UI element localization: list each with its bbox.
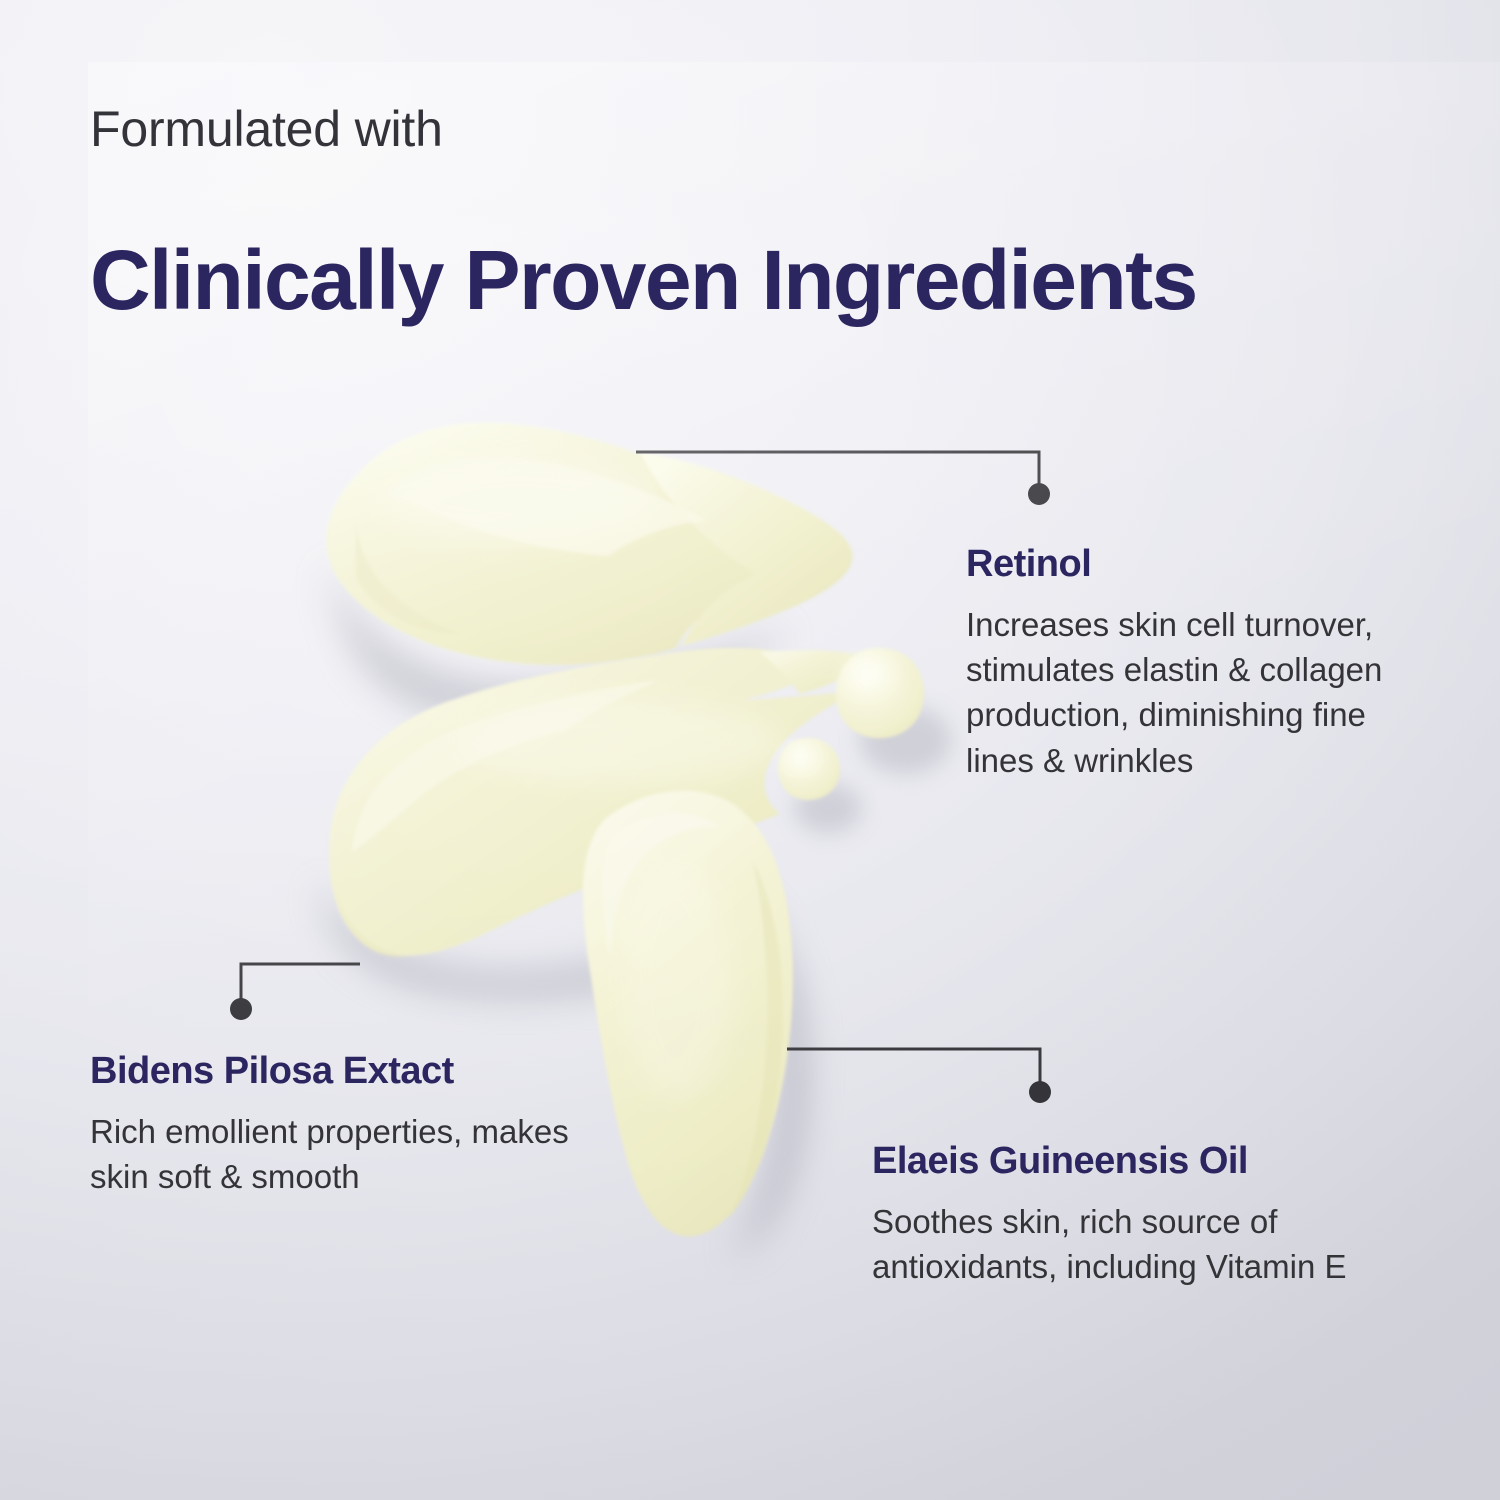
- leader-dot-elaeis: [1029, 1081, 1051, 1103]
- leader-line-elaeis: [787, 1049, 1040, 1082]
- callout-body-bidens: Rich emollient properties, makes skin so…: [90, 1109, 610, 1199]
- callout-retinol: Retinol Increases skin cell turnover, st…: [966, 543, 1426, 783]
- callout-title-retinol: Retinol: [966, 543, 1426, 586]
- leader-line-retinol: [636, 452, 1039, 484]
- callout-title-elaeis: Elaeis Guineensis Oil: [872, 1140, 1372, 1183]
- page-title: Clinically Proven Ingredients: [90, 232, 1197, 329]
- ingredients-infographic: Formulated with Clinically Proven Ingred…: [0, 0, 1500, 1500]
- callout-elaeis: Elaeis Guineensis Oil Soothes skin, rich…: [872, 1140, 1372, 1289]
- eyebrow-text: Formulated with: [90, 100, 443, 158]
- callout-title-bidens: Bidens Pilosa Extact: [90, 1050, 610, 1093]
- leader-dot-retinol: [1028, 483, 1050, 505]
- callout-bidens: Bidens Pilosa Extact Rich emollient prop…: [90, 1050, 610, 1199]
- callout-body-retinol: Increases skin cell turnover, stimulates…: [966, 602, 1426, 783]
- leader-dot-bidens: [230, 998, 252, 1020]
- leader-line-bidens: [241, 964, 360, 999]
- callout-body-elaeis: Soothes skin, rich source of antioxidant…: [872, 1199, 1372, 1289]
